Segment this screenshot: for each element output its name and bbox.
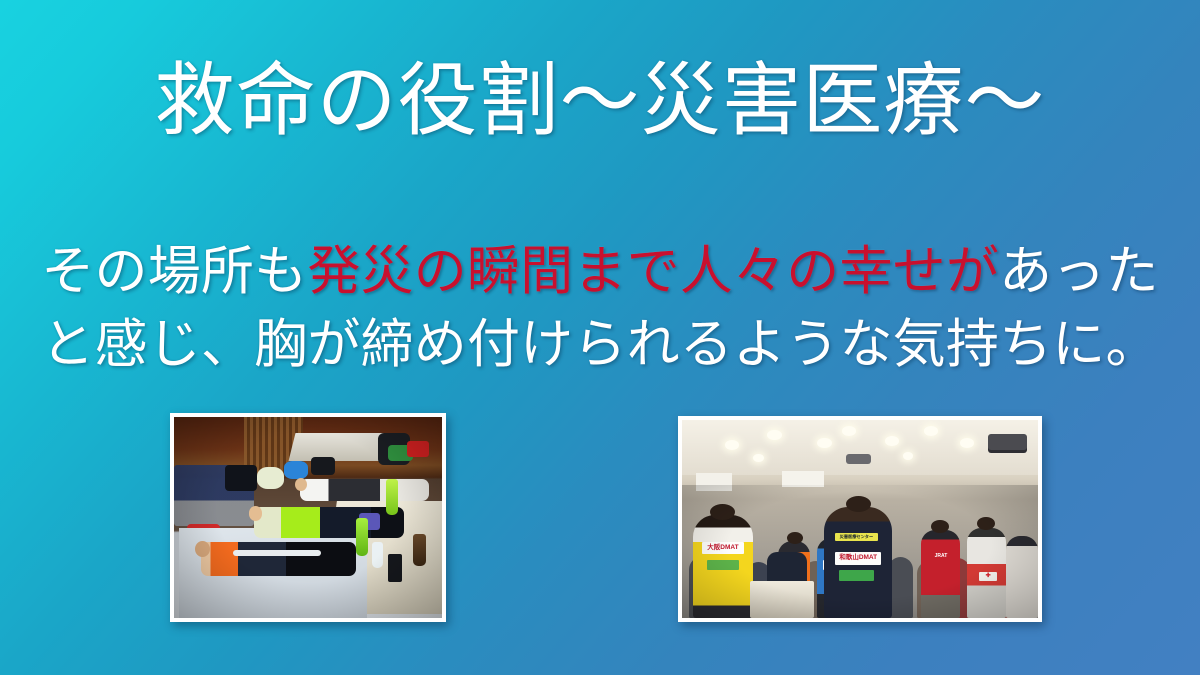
photo-dmat-coordination-room: JRAT ✚ 大阪DMAT 災害医療センター 和歌山DMAT: [678, 416, 1042, 622]
subtitle-line-2: と感じ、胸が締め付けられるような気持ちに。: [0, 309, 1200, 382]
subtitle-segment-highlight: 発災の瞬間まで人々の幸せが: [307, 243, 999, 301]
ceiling-light: [903, 452, 914, 460]
ceiling-speaker: [846, 454, 871, 464]
ceiling-light: [725, 440, 739, 450]
photo-right-scene: JRAT ✚ 大阪DMAT 災害医療センター 和歌山DMAT: [682, 420, 1038, 618]
subtitle-block: その場所も発災の瞬間まで人々の幸せがあった と感じ、胸が締め付けられるような気持…: [0, 236, 1200, 382]
subtitle-segment-line2: と感じ、胸が締め付けられるような気持ちに。: [41, 316, 1158, 374]
page-title: 救命の役割〜災害医療〜: [155, 58, 1046, 148]
title-block: 救命の役割〜災害医療〜: [0, 58, 1200, 148]
subtitle-segment-plain-tail: あった: [999, 243, 1159, 301]
photo-rescue-workers-resting: [170, 413, 446, 622]
slide-canvas: 救命の役割〜災害医療〜 その場所も発災の瞬間まで人々の幸せがあった と感じ、胸が…: [0, 0, 1200, 675]
subtitle-line-1: その場所も発災の瞬間まで人々の幸せがあった: [0, 236, 1200, 309]
ceiling-light: [960, 438, 974, 448]
photo-left-scene: [174, 417, 442, 618]
ceiling-light: [817, 438, 831, 448]
photo-right-image: JRAT ✚ 大阪DMAT 災害医療センター 和歌山DMAT: [682, 420, 1038, 618]
ceiling-light: [924, 426, 938, 436]
photo-left-image: [174, 417, 442, 618]
crowd-of-responders: JRAT ✚ 大阪DMAT 災害医療センター 和歌山DMAT: [682, 485, 1038, 618]
photo-vignette: [174, 417, 442, 618]
photo-vignette: [682, 485, 1038, 618]
subtitle-segment-plain: その場所も: [41, 243, 307, 301]
ceiling-light: [885, 436, 899, 446]
ceiling-light: [753, 454, 764, 462]
ceiling-light: [767, 430, 781, 440]
projector: [988, 434, 1027, 450]
